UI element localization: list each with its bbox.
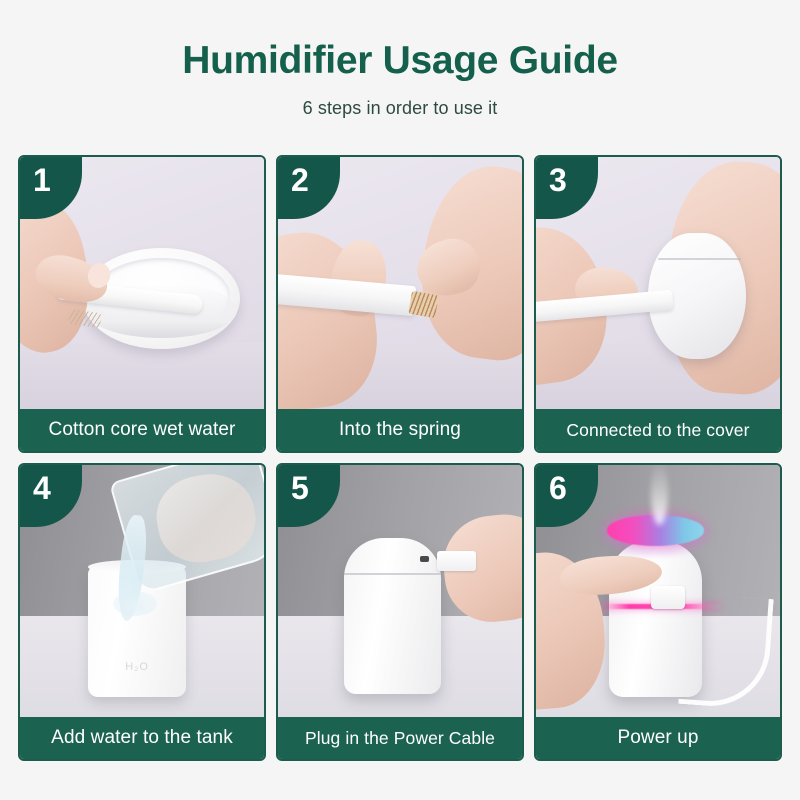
page-title: Humidifier Usage Guide <box>0 40 800 83</box>
step-number-5: 5 <box>291 472 309 504</box>
step-card-5[interactable]: 5 Plug in the Power Cable <box>276 463 524 761</box>
step-caption-3: Connected to the cover <box>536 409 780 451</box>
step-photo-5: 5 <box>278 465 522 717</box>
step-card-1[interactable]: 1 Cotton core wet water <box>18 155 266 453</box>
table-surface <box>20 343 264 409</box>
body-seam <box>344 573 442 575</box>
step-caption-2: Into the spring <box>278 409 522 451</box>
step-number-2: 2 <box>291 164 309 196</box>
step-caption-4: Add water to the tank <box>20 717 264 759</box>
step-photo-1: 1 <box>20 157 264 409</box>
step-card-3[interactable]: 3 Connected to the cover <box>534 155 782 453</box>
page-subtitle: 6 steps in order to use it <box>0 98 800 119</box>
usb-plug <box>437 551 476 571</box>
infographic-page: Humidifier Usage Guide 6 steps in order … <box>0 0 800 800</box>
step-card-2[interactable]: 2 Into the spring <box>276 155 524 453</box>
step-number-3: 3 <box>549 164 567 196</box>
steps-grid: 1 Cotton core wet water 2 Into the sprin… <box>18 155 782 761</box>
step-caption-1: Cotton core wet water <box>20 409 264 451</box>
step-number-6: 6 <box>549 472 567 504</box>
step-photo-6: 6 <box>536 465 780 717</box>
mist-plume <box>651 465 668 525</box>
step-photo-4: H₂O 4 <box>20 465 264 717</box>
header: Humidifier Usage Guide 6 steps in order … <box>0 0 800 119</box>
power-button[interactable] <box>651 586 685 609</box>
tank-label: H₂O <box>88 661 186 673</box>
step-photo-2: 2 <box>278 157 522 409</box>
water-splash <box>113 591 157 616</box>
step-card-4[interactable]: H₂O 4 Add water to the tank <box>18 463 266 761</box>
spring-coil <box>408 291 438 318</box>
step-caption-5: Plug in the Power Cable <box>278 717 522 759</box>
step-photo-3: 3 <box>536 157 780 409</box>
step-caption-6: Power up <box>536 717 780 759</box>
cover-seam <box>658 258 741 260</box>
step-number-1: 1 <box>33 164 51 196</box>
step-number-4: 4 <box>33 472 51 504</box>
step-card-6[interactable]: 6 Power up <box>534 463 782 761</box>
usb-port <box>420 556 429 562</box>
